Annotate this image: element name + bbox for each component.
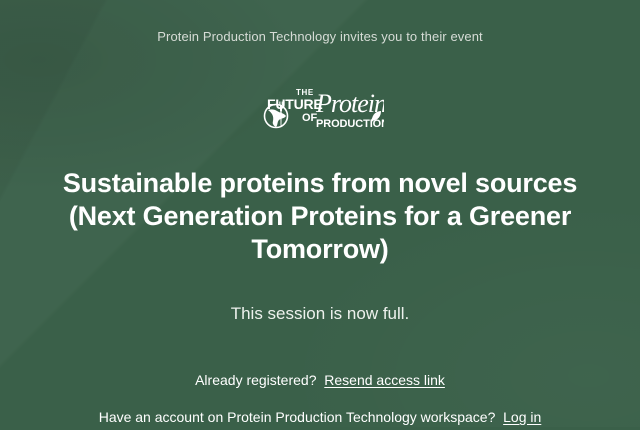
svg-text:Protein: Protein	[315, 89, 384, 118]
event-title: Sustainable proteins from novel sources …	[40, 167, 600, 266]
footer-links: Already registered? Resend access link H…	[85, 368, 555, 430]
invite-banner: Protein Production Technology invites yo…	[157, 29, 483, 45]
already-registered-label: Already registered?	[195, 372, 316, 388]
workspace-account-label: Have an account on Protein Production Te…	[99, 409, 496, 425]
event-registration-page: Protein Production Technology invites yo…	[0, 0, 640, 427]
resend-access-link[interactable]: Resend access link	[324, 372, 445, 388]
log-in-link[interactable]: Log in	[503, 409, 541, 425]
event-logo: THE FUTURE OF Protein PRODUCTION	[256, 83, 384, 135]
svg-text:FUTURE: FUTURE	[267, 96, 323, 112]
session-status: This session is now full.	[231, 303, 410, 324]
workspace-login-row: Have an account on Protein Production Te…	[85, 405, 555, 430]
resend-access-row: Already registered? Resend access link	[85, 368, 555, 393]
